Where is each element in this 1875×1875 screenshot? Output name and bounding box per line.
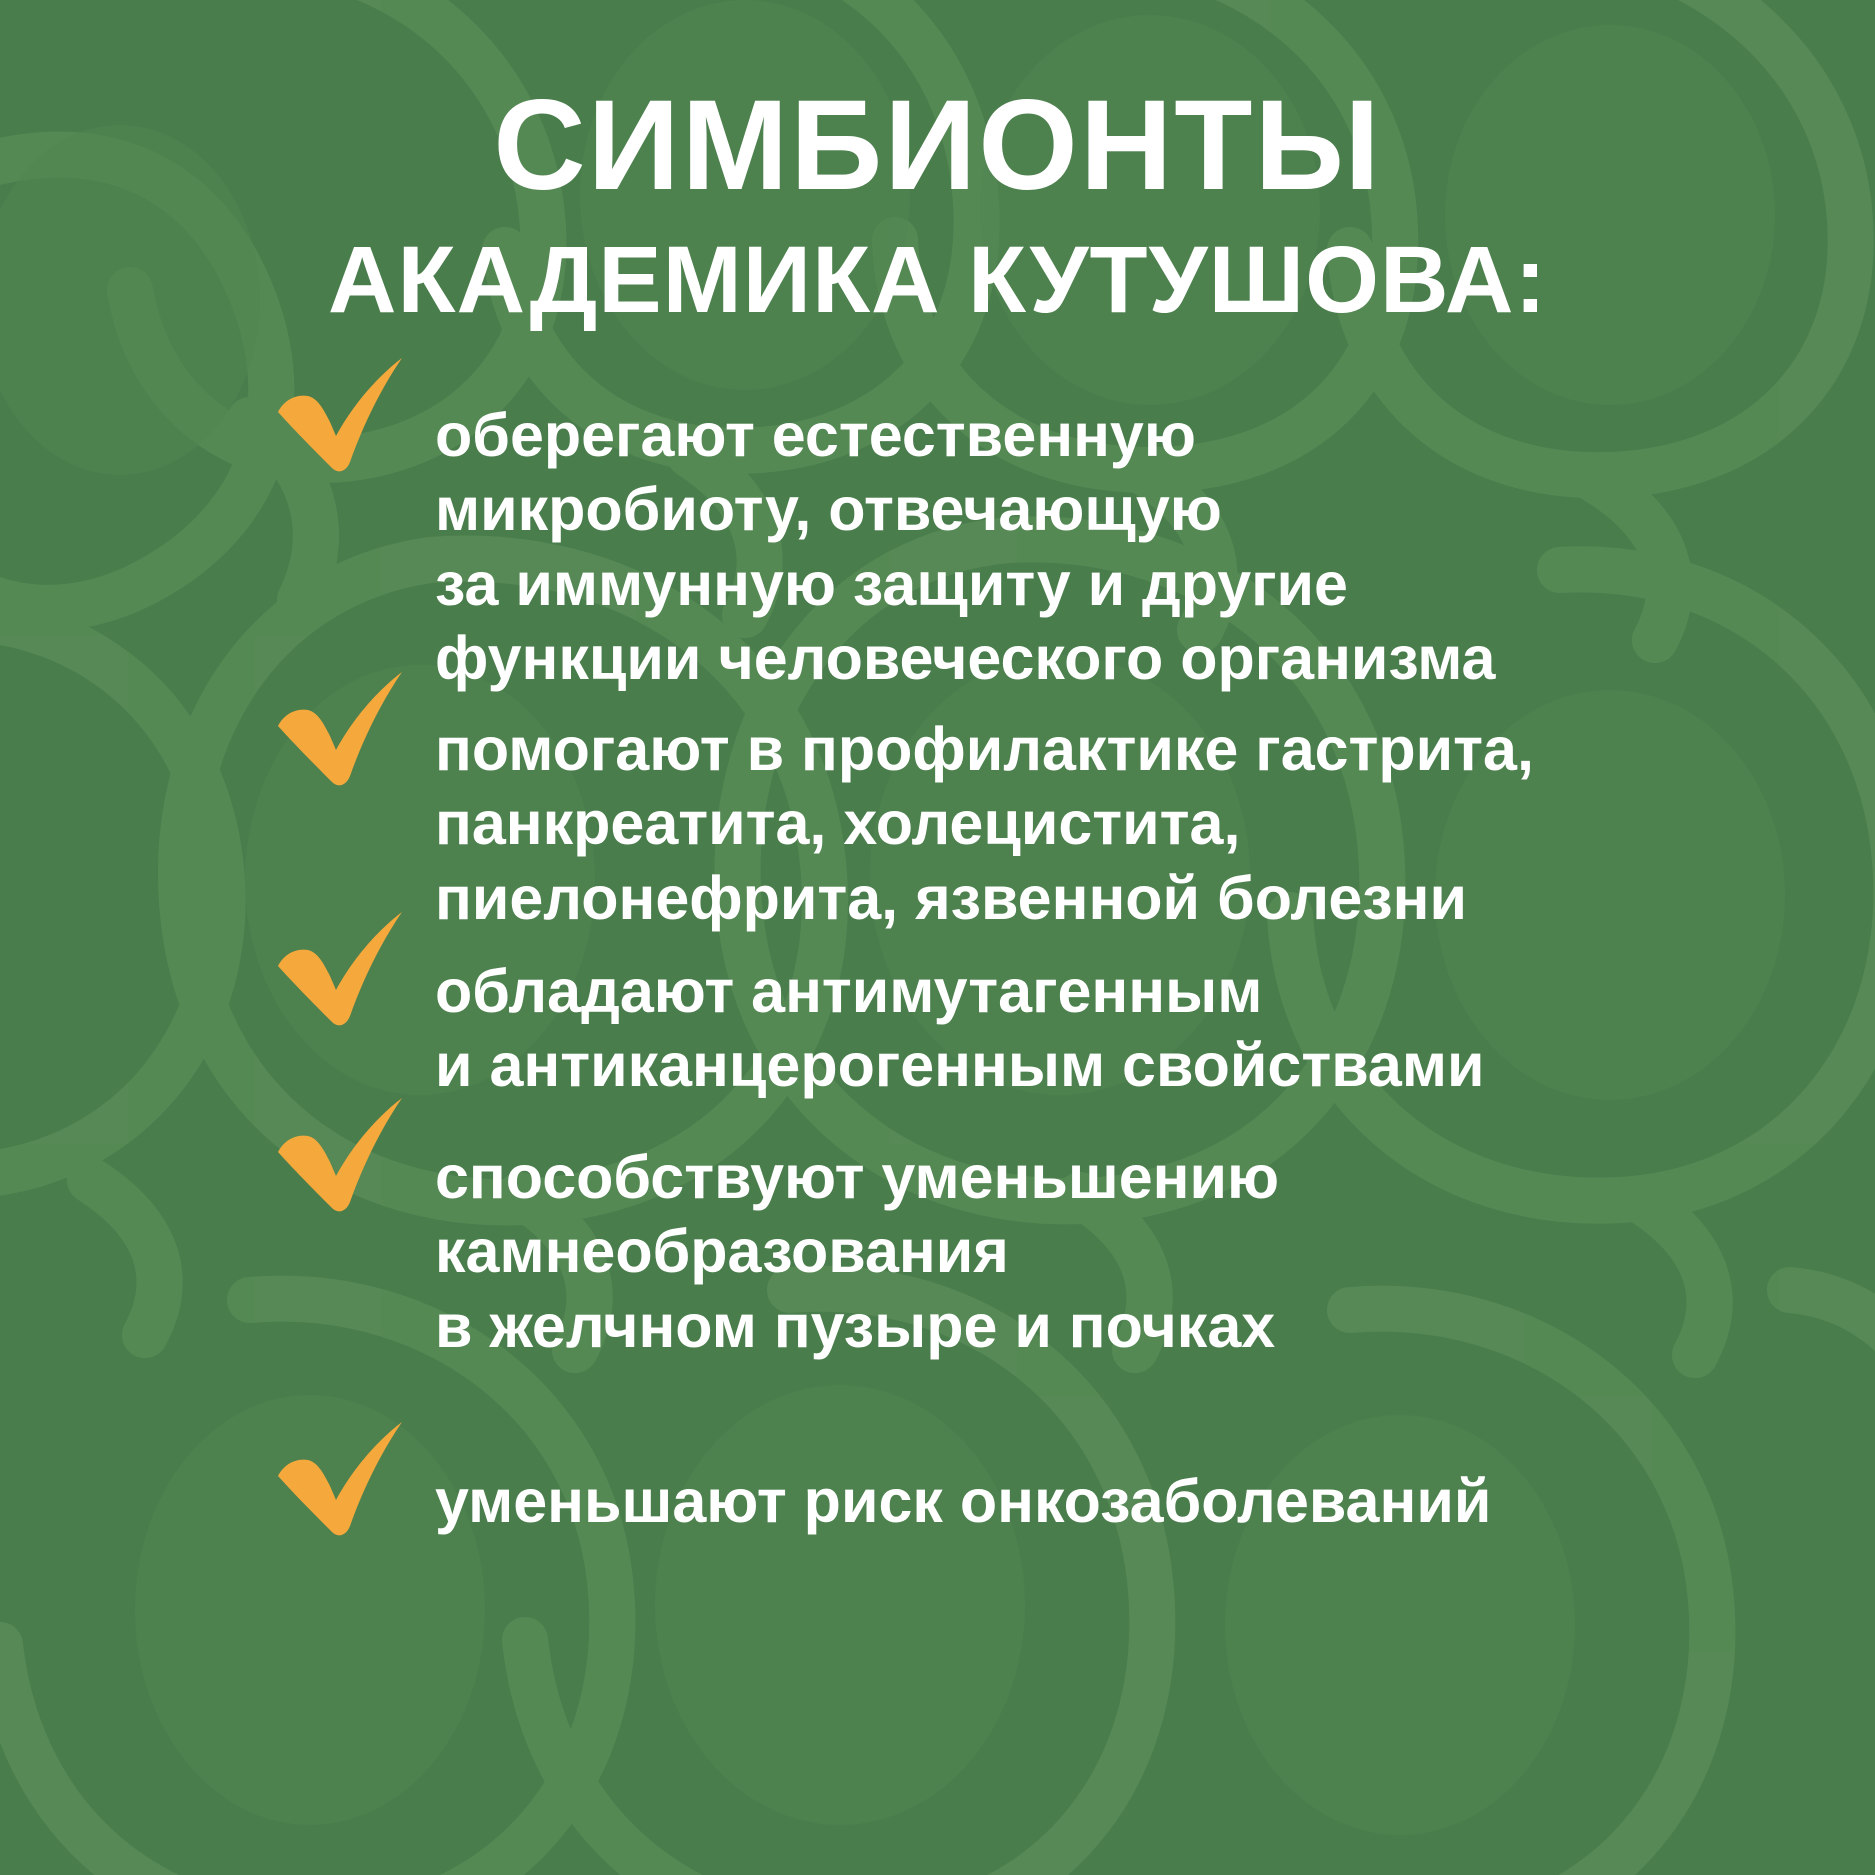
page-title: СИМБИОНТЫ АКАДЕМИКА КУТУШОВА: — [0, 82, 1875, 335]
poster-canvas: СИМБИОНТЫ АКАДЕМИКА КУТУШОВА: оберегают … — [0, 0, 1875, 1875]
list-item-line: за иммунную защиту и другие — [435, 547, 1495, 621]
list-item-text: обладают антимутагенным и антиканцероген… — [435, 954, 1484, 1103]
benefits-list: оберегают естественную микробиоту, отвеч… — [0, 330, 1875, 1730]
list-item-line: способствуют уменьшению — [435, 1140, 1279, 1214]
check-mark-icon — [270, 662, 410, 792]
list-item-line: в желчном пузыре и почках — [435, 1289, 1279, 1363]
list-item-line: функции человеческого организма — [435, 621, 1495, 695]
list-item-line: помогают в профилактике гастрита, — [435, 712, 1534, 786]
list-item-text: способствуют уменьшению камнеобразования… — [435, 1140, 1279, 1363]
list-item-line: оберегают естественную — [435, 398, 1495, 472]
check-mark-icon — [270, 1412, 410, 1542]
title-line-primary: СИМБИОНТЫ — [0, 82, 1875, 210]
check-mark-icon — [270, 1088, 410, 1218]
list-item-text: помогают в профилактике гастрита, панкре… — [435, 712, 1534, 935]
list-item-line: обладают антимутагенным — [435, 954, 1484, 1028]
list-item-text: оберегают естественную микробиоту, отвеч… — [435, 398, 1495, 696]
list-item-line: пиелонефрита, язвенной болезни — [435, 861, 1534, 935]
check-mark-icon — [270, 348, 410, 478]
title-line-secondary: АКАДЕМИКА КУТУШОВА: — [0, 226, 1875, 335]
list-item-line: панкреатита, холецистита, — [435, 786, 1534, 860]
list-item-line: уменьшают риск онкозаболеваний — [435, 1464, 1491, 1538]
list-item-text: уменьшают риск онкозаболеваний — [435, 1464, 1491, 1538]
list-item-line: камнеобразования — [435, 1214, 1279, 1288]
list-item-line: микробиоту, отвечающую — [435, 472, 1495, 546]
check-mark-icon — [270, 902, 410, 1032]
list-item-line: и антиканцерогенным свойствами — [435, 1028, 1484, 1102]
